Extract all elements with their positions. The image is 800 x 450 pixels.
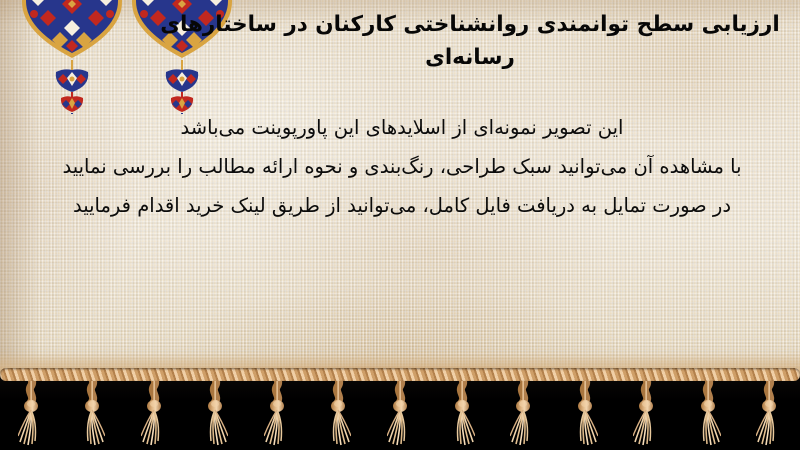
slide-canvas: ارزیابی سطح توانمندی روانشناختی کارکنان …: [0, 0, 800, 450]
slide-title: ارزیابی سطح توانمندی روانشناختی کارکنان …: [150, 8, 790, 74]
fringe-tassel: [756, 370, 782, 448]
slide-body-line-2: با مشاهده آن می‌توانید سبک طراحی، رنگ‌بن…: [20, 147, 784, 186]
slide-title-line-2: رسانه‌ای: [150, 41, 790, 74]
fringe-tassel: [510, 370, 536, 448]
carpet-fringe: [0, 370, 800, 450]
fringe-tassel: [264, 370, 290, 448]
fringe-tassel: [325, 370, 351, 448]
slide-body-line-3: در صورت تمایل به دریافت فایل کامل، می‌تو…: [20, 186, 784, 225]
slide-body-line-1: این تصویر نمونه‌ای از اسلایدهای این پاور…: [20, 108, 784, 147]
slide-title-line-1: ارزیابی سطح توانمندی روانشناختی کارکنان …: [150, 8, 790, 41]
fringe-tassel: [633, 370, 659, 448]
slide-body: این تصویر نمونه‌ای از اسلایدهای این پاور…: [20, 108, 784, 225]
fringe-tassel: [695, 370, 721, 448]
fringe-tassel: [387, 370, 413, 448]
carpet-cord: [0, 368, 800, 381]
fringe-tassel: [141, 370, 167, 448]
persian-medallion-icon: [18, 0, 126, 114]
fringe-tassel: [202, 370, 228, 448]
fringe-tassel: [572, 370, 598, 448]
fringe-tassel: [79, 370, 105, 448]
fringe-tassel: [449, 370, 475, 448]
fringe-tassel: [18, 370, 44, 448]
